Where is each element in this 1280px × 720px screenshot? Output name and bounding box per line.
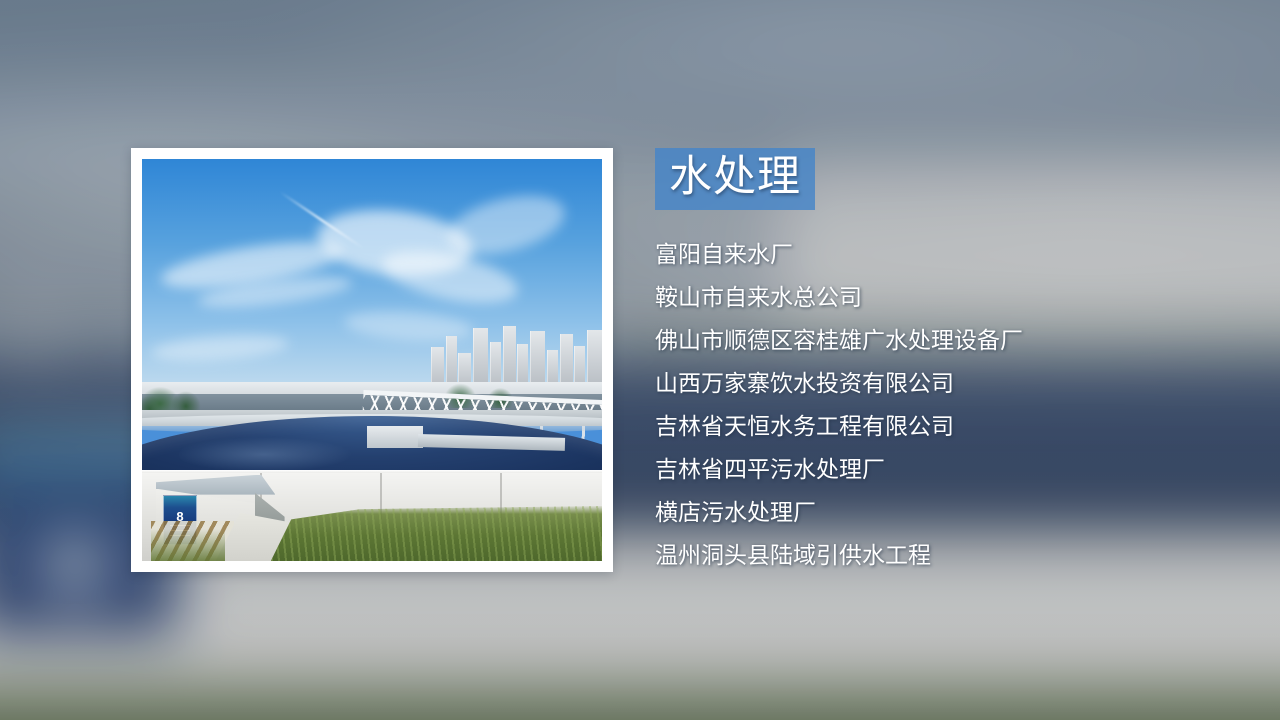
company-list: 富阳自来水厂 鞍山市自来水总公司 佛山市顺德区容桂雄广水处理设备厂 山西万家寨饮… — [655, 243, 1255, 567]
list-item: 富阳自来水厂 — [655, 243, 1255, 266]
page-title: 水处理 — [669, 154, 801, 200]
title-block: 水处理 — [655, 148, 815, 210]
list-item: 鞍山市自来水总公司 — [655, 286, 1255, 309]
list-item: 吉林省四平污水处理厂 — [655, 458, 1255, 481]
photo-grass-left — [151, 529, 225, 561]
list-item: 吉林省天恒水务工程有限公司 — [655, 415, 1255, 438]
list-item: 山西万家寨饮水投资有限公司 — [655, 372, 1255, 395]
list-item: 横店污水处理厂 — [655, 501, 1255, 524]
list-item: 温州洞头县陆域引供水工程 — [655, 544, 1255, 567]
photo-card: 8 — [131, 148, 613, 572]
list-item: 佛山市顺德区容桂雄广水处理设备厂 — [655, 329, 1255, 352]
photo-basin-structure — [367, 426, 422, 448]
photo-water-treatment-plant: 8 — [142, 159, 602, 561]
slide-root: 8 水处理 富阳自来水厂 鞍山市自来水总公司 佛山市顺德区容桂雄广水处理设备厂 … — [0, 0, 1280, 720]
content-column: 水处理 富阳自来水厂 鞍山市自来水总公司 佛山市顺德区容桂雄广水处理设备厂 山西… — [655, 148, 1255, 587]
